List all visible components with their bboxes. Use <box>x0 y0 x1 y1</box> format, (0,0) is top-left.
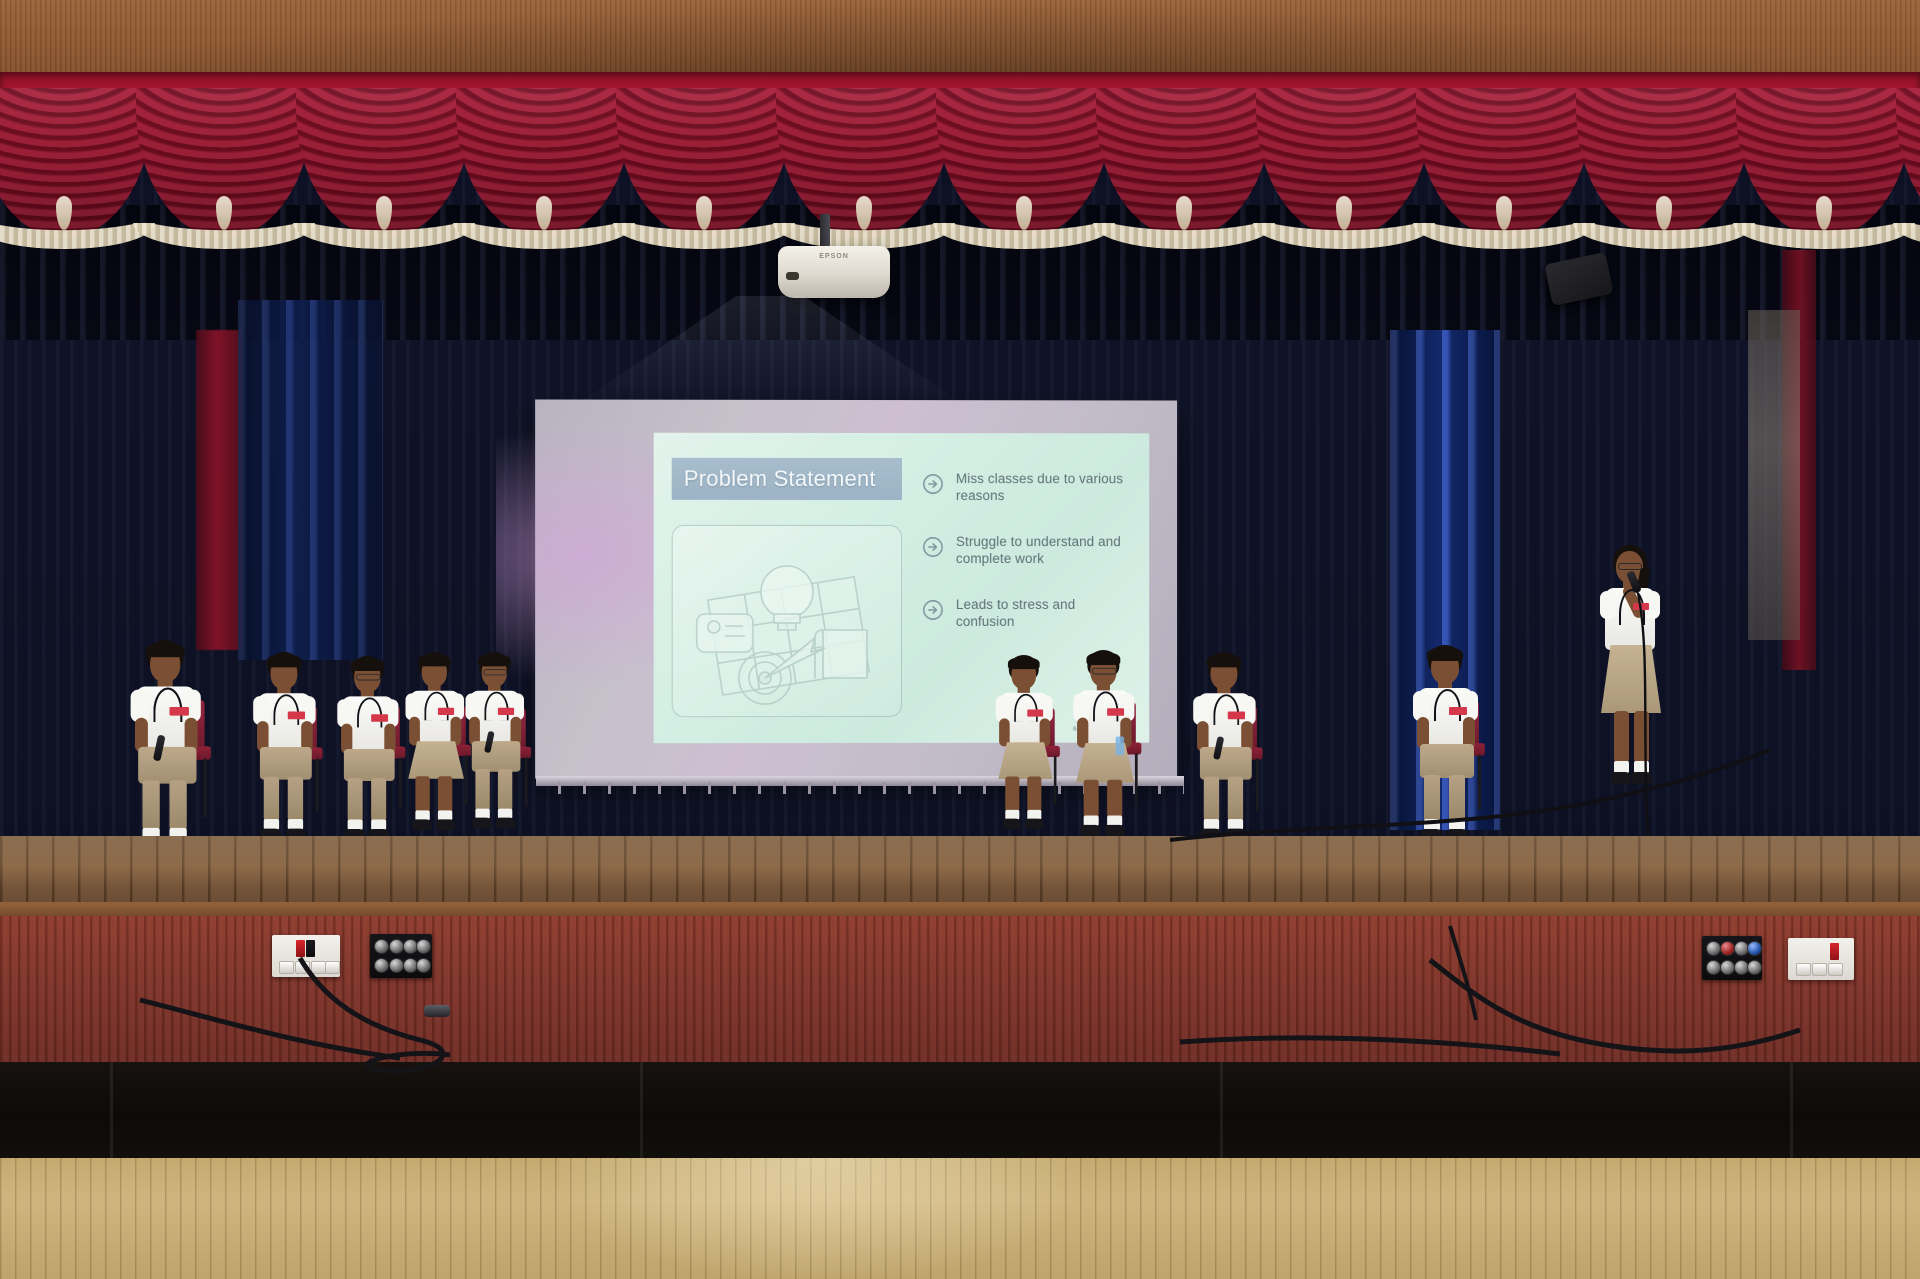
name-badge <box>498 708 514 715</box>
shin-right <box>498 769 512 810</box>
slide-title-plate: Problem Statement <box>672 458 902 500</box>
glasses <box>484 669 507 675</box>
name-badge <box>288 712 305 720</box>
shin-right <box>1107 780 1122 818</box>
hair-top <box>350 658 384 671</box>
trousers-lap <box>344 749 395 781</box>
microphone-on-floor <box>424 1005 450 1017</box>
hair-top <box>146 642 185 657</box>
name-badge <box>438 708 454 715</box>
shin-left <box>264 777 279 821</box>
stage-floor-cable <box>1150 730 1850 860</box>
shin-right <box>288 777 303 821</box>
stage-door-panel <box>1748 310 1800 640</box>
auditorium-stage-photo: EPSON Problem Statement <box>0 0 1920 1279</box>
arrow-right-circle-icon <box>922 473 944 495</box>
slide-title: Problem Statement <box>672 466 876 492</box>
arrow-right-circle-icon <box>922 536 944 558</box>
shoe-left <box>473 818 492 829</box>
glasses <box>356 674 380 681</box>
skirt <box>998 742 1053 779</box>
shoe-right <box>436 819 455 830</box>
name-badge <box>1228 712 1245 720</box>
glasses <box>1618 563 1642 570</box>
name-badge <box>1449 707 1467 715</box>
shoe-left <box>1081 825 1101 836</box>
hair-top <box>1086 652 1120 665</box>
hair-top <box>267 654 302 667</box>
sleeve-left <box>1600 591 1616 619</box>
shin-left <box>1005 776 1019 811</box>
shin-right <box>438 776 452 812</box>
shin-right <box>1027 776 1041 811</box>
arrow-right-circle-icon <box>922 599 944 621</box>
slide-bullet-text: Miss classes due to various reasons <box>956 471 1137 504</box>
shin-right <box>169 780 186 830</box>
curtain-leg-red-left <box>196 330 242 650</box>
glasses <box>1092 668 1116 675</box>
hair-top <box>418 654 450 667</box>
shoe-right <box>496 818 515 829</box>
skirt <box>1076 743 1134 782</box>
lightbulb-grid-target-icon <box>673 526 901 716</box>
name-badge <box>169 707 188 716</box>
hair-top <box>1207 654 1242 667</box>
trousers-lap <box>472 741 521 772</box>
ceiling-projector: EPSON <box>778 246 890 298</box>
skirt <box>408 741 464 779</box>
slide-bullet-text: Leads to stress and confusion <box>956 597 1137 630</box>
water-bottle <box>1116 736 1124 755</box>
slide-bullet-item: Miss classes due to various reasons <box>922 471 1137 504</box>
slide-bullet-item: Leads to stress and confusion <box>922 597 1137 630</box>
slide-illustration-frame <box>672 525 902 717</box>
hair-top <box>1008 657 1040 669</box>
shin-left <box>415 776 429 812</box>
projector-brand-label: EPSON <box>819 253 849 260</box>
name-badge <box>1027 710 1043 717</box>
shin-left <box>348 778 363 821</box>
name-badge <box>371 714 388 722</box>
hall-floor-sheen <box>560 1158 1080 1279</box>
slide-bullet-item: Struggle to understand and complete work <box>922 534 1137 567</box>
projector-mount <box>820 214 830 250</box>
shin-right <box>371 778 386 821</box>
shoe-right <box>1105 825 1125 836</box>
shoe-left <box>1003 819 1021 830</box>
shin-left <box>475 769 489 810</box>
trousers-lap <box>260 747 312 780</box>
trousers-lap <box>138 747 196 784</box>
projector-lens <box>786 272 799 280</box>
shoe-left <box>413 819 432 830</box>
name-badge <box>1107 708 1124 716</box>
hair-top <box>478 654 510 667</box>
curtain-leg-blue-left <box>238 300 383 660</box>
slide-bullet-list: Miss classes due to various reasons Stru… <box>922 471 1137 660</box>
hair-top <box>1427 647 1463 661</box>
slide-bullet-text: Struggle to understand and complete work <box>956 534 1137 567</box>
shin-left <box>142 780 159 830</box>
stage-cables <box>0 880 1920 1080</box>
shoe-right <box>1026 819 1044 830</box>
shin-left <box>1084 780 1099 818</box>
